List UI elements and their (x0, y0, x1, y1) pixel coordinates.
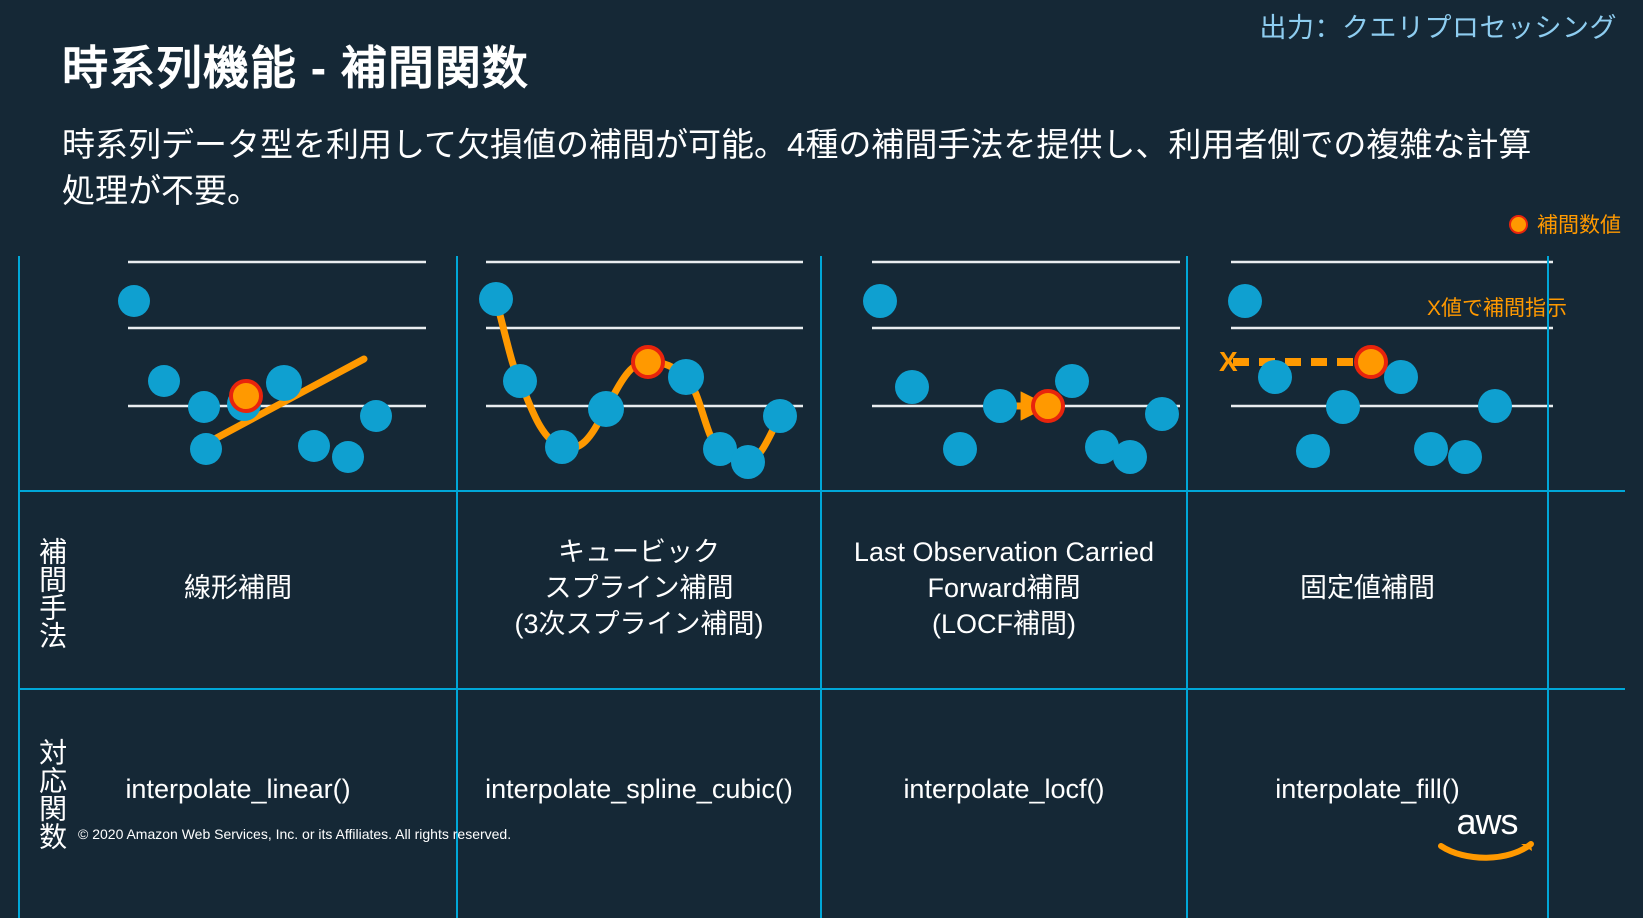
chart-panel-spline (458, 244, 803, 490)
interpolated-point (231, 381, 261, 411)
chart-vline-0 (18, 256, 20, 490)
page-title: 時系列機能 - 補間関数 (62, 32, 529, 98)
interpolated-point (633, 347, 663, 377)
fixed-value-note: X値で補間指示 (1427, 292, 1567, 322)
table-cell-function-2: interpolate_locf() (822, 690, 1186, 890)
chart-vline-4 (1547, 256, 1549, 490)
legend-label: 補間数値 (1537, 209, 1621, 239)
fill-chart-svg: X (1203, 244, 1563, 490)
slide-root: 出力：クエリプロセッシング 時系列機能 - 補間関数 時系列データ型を利用して欠… (0, 0, 1643, 918)
linear-chart-svg (86, 244, 426, 490)
copyright-text: © 2020 Amazon Web Services, Inc. or its … (78, 826, 511, 842)
interpolated-point (1033, 391, 1063, 421)
table-cell-function-0: interpolate_linear() (20, 690, 456, 890)
table-cell-method-0: 線形補間 (20, 492, 456, 686)
table-cell-method-3: 固定値補間 (1188, 492, 1547, 686)
locf-chart-svg (840, 244, 1180, 490)
svg-text:aws: aws (1456, 801, 1517, 842)
aws-logo-icon: aws (1431, 800, 1543, 862)
chart-panel-locf (840, 244, 1180, 490)
interpolated-point (1356, 347, 1386, 377)
table-cell-method-1: キュービックスプライン補間(3次スプライン補間) (458, 492, 820, 686)
table-vline-4 (1547, 490, 1549, 918)
chart-vline-3 (1186, 256, 1188, 490)
data-points (118, 285, 392, 473)
chart-panel-fill: X X値で補間指示 (1203, 244, 1563, 490)
table-cell-method-2: Last Observation CarriedForward補間(LOCF補間… (822, 492, 1186, 686)
chart-vline-1 (456, 256, 458, 490)
chart-vline-2 (820, 256, 822, 490)
data-points (479, 282, 797, 479)
spline-chart-svg (458, 244, 803, 490)
interpolated-value-dot-icon (1509, 215, 1528, 234)
chart-panel-linear (86, 244, 426, 490)
spline-curve (496, 299, 780, 462)
slide-eyebrow: 出力：クエリプロセッシング (1260, 6, 1618, 45)
legend: 補間数値 (1509, 209, 1621, 239)
table-cell-function-1: interpolate_spline_cubic() (458, 690, 820, 890)
page-subtitle: 時系列データ型を利用して欠損値の補間が可能。4種の補間手法を提供し、利用者側での… (62, 122, 1562, 213)
data-points (863, 284, 1179, 474)
